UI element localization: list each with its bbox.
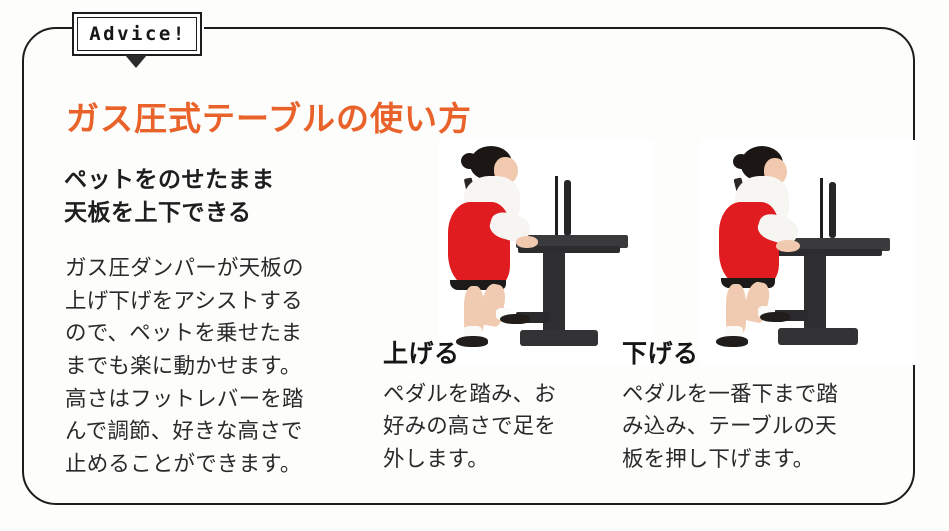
advice-badge: Advice! [72,12,202,56]
caption-heading-lower: 下げる [622,334,699,370]
advice-badge-label: Advice! [87,25,187,44]
advice-badge-inner-border: Advice! [77,17,197,51]
section-body-text: ガス圧ダンパーが天板の 上げ下げをアシストする ので、ペットを乗せたま までも楽… [65,252,370,481]
caption-body-lower: ペダルを一番下まで踏 み込み、テーブルの天 板を押し下げます。 [622,378,854,475]
figure-lower [700,140,915,365]
woman-raising-table-photo [438,140,653,365]
woman-lowering-table-photo [700,140,915,365]
page-title: ガス圧式テーブルの使い方 [66,92,472,140]
figure-raise [438,140,653,365]
caption-heading-raise: 上げる [383,334,460,370]
advice-panel: Advice! ガス圧式テーブルの使い方 ペットをのせたまま 天板を上下できる … [0,0,949,531]
triangle-down-icon [125,55,147,68]
section-subheading: ペットをのせたまま 天板を上下できる [64,163,275,228]
caption-body-raise: ペダルを踏み、お 好みの高さで足を 外します。 [383,378,595,475]
